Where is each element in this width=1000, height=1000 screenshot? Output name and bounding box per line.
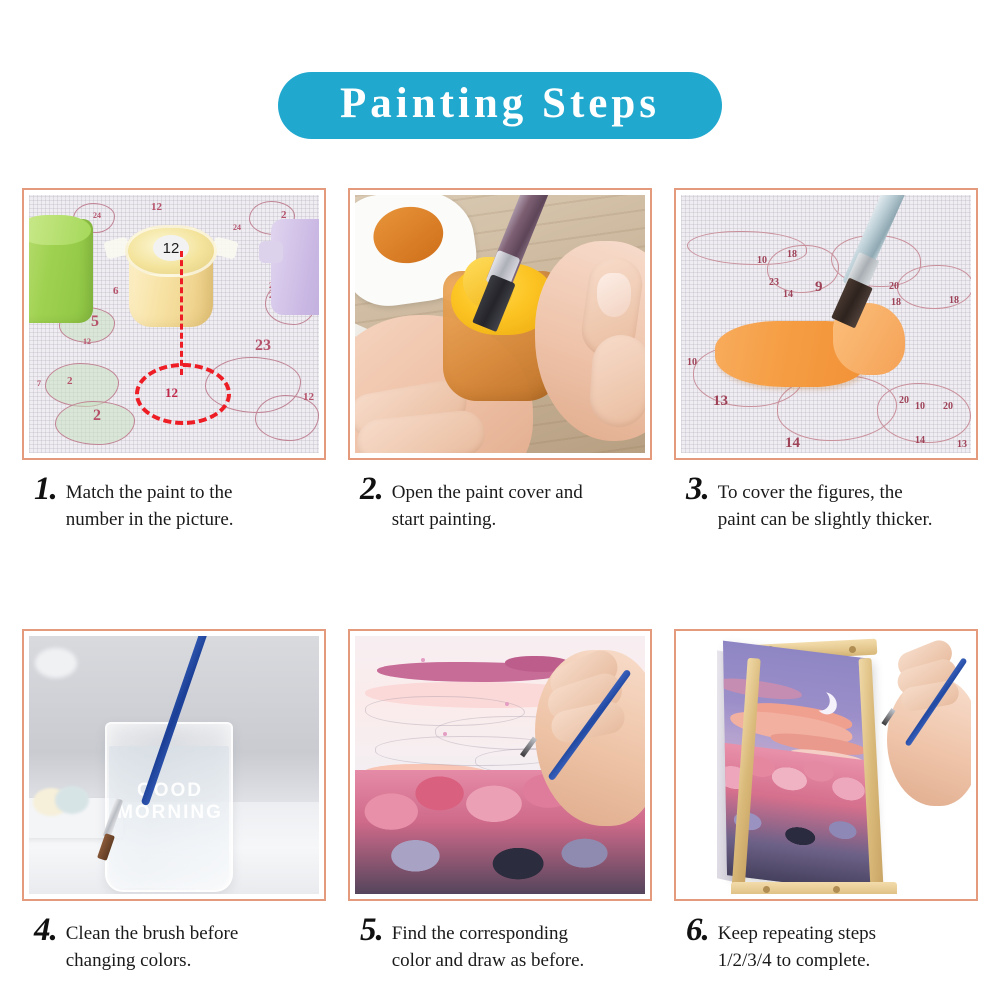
step-5-number: 5. bbox=[360, 915, 383, 945]
step-cell-6: 6. Keep repeating steps 1/2/3/4 to compl… bbox=[674, 629, 978, 974]
easel-screw bbox=[763, 886, 770, 893]
step-cell-3: 10 18 23 14 9 20 18 18 10 20 13 20 10 20 bbox=[674, 188, 978, 533]
steps-row-top: 12 24 2 24 7 6 24 23 5 12 23 2 7 2 bbox=[22, 188, 978, 533]
step-6-photo-frame bbox=[674, 629, 978, 901]
canvas-number: 18 bbox=[891, 297, 901, 308]
opening-paint-pot-photo bbox=[355, 195, 645, 453]
painted-cloud bbox=[723, 676, 802, 703]
paint-pot-number-label: 12 bbox=[153, 235, 189, 261]
canvas-number: 23 bbox=[769, 277, 779, 288]
canvas-number: 18 bbox=[787, 249, 797, 260]
canvas-number: 10 bbox=[757, 255, 767, 266]
number-dot bbox=[443, 732, 447, 736]
canvas-number: 24 bbox=[93, 211, 101, 220]
easel-screw bbox=[849, 646, 856, 653]
step-6-caption: 6. Keep repeating steps 1/2/3/4 to compl… bbox=[674, 915, 978, 974]
canvas-number: 18 bbox=[949, 295, 959, 306]
canvas-number: 10 bbox=[687, 357, 697, 368]
yellow-paint-pot: 12 bbox=[121, 219, 221, 327]
canvas-number: 20 bbox=[889, 281, 899, 292]
step-cell-1: 12 24 2 24 7 6 24 23 5 12 23 2 7 2 bbox=[22, 188, 326, 533]
step-3-caption: 3. To cover the figures, the paint can b… bbox=[674, 474, 978, 533]
page-title: Painting Steps bbox=[324, 82, 676, 125]
canvas-number: 14 bbox=[915, 435, 925, 446]
page-title-pill: Painting Steps bbox=[278, 72, 722, 139]
green-paint-pot bbox=[29, 219, 93, 323]
brush-covering-numbers-photo: 10 18 23 14 9 20 18 18 10 20 13 20 10 20 bbox=[681, 195, 971, 453]
canvas-outline-shape bbox=[45, 363, 119, 407]
step-5-photo-frame bbox=[348, 629, 652, 901]
background-blur-object bbox=[35, 648, 77, 678]
canvas-number: 13 bbox=[957, 439, 967, 450]
glass-printed-text: GOOD MORNING bbox=[115, 780, 225, 824]
canvas-number: 10 bbox=[915, 401, 925, 412]
canvas-number: 12 bbox=[303, 391, 314, 403]
canvas-number: 7 bbox=[37, 379, 41, 388]
page-title-container: Painting Steps bbox=[0, 72, 1000, 139]
step-cell-4: GOOD MORNING 4. Clean the brush before c… bbox=[22, 629, 326, 974]
brush-in-water-glass-photo: GOOD MORNING bbox=[29, 636, 319, 894]
canvas-number: 6 bbox=[113, 285, 119, 297]
number-dot bbox=[505, 702, 509, 706]
canvas-number: 23 bbox=[255, 337, 271, 355]
step-2-number: 2. bbox=[360, 474, 383, 504]
canvas-number: 12 bbox=[151, 201, 162, 213]
step-2-text: Open the paint cover and start painting. bbox=[392, 474, 583, 533]
background-object bbox=[55, 786, 89, 814]
canvas-number: 12 bbox=[83, 337, 91, 346]
purple-paint-pot bbox=[271, 219, 319, 315]
step-6-number: 6. bbox=[686, 915, 709, 945]
canvas-number: 20 bbox=[943, 401, 953, 412]
canvas-number: 9 bbox=[815, 279, 823, 296]
glass-text-line-2: MORNING bbox=[117, 802, 223, 823]
step-cell-2: 2. Open the paint cover and start painti… bbox=[348, 188, 652, 533]
step-1-photo-frame: 12 24 2 24 7 6 24 23 5 12 23 2 7 2 bbox=[22, 188, 326, 460]
step-5-caption: 5. Find the corresponding color and draw… bbox=[348, 915, 652, 974]
canvas-number: 20 bbox=[899, 395, 909, 406]
step-3-text: To cover the figures, the paint can be s… bbox=[718, 474, 933, 533]
step-6-text: Keep repeating steps 1/2/3/4 to complete… bbox=[718, 915, 876, 974]
highlighted-canvas-number: 12 bbox=[165, 385, 178, 401]
paint-pot-matching-number-photo: 12 24 2 24 7 6 24 23 5 12 23 2 7 2 bbox=[29, 195, 319, 453]
step-3-photo-frame: 10 18 23 14 9 20 18 18 10 20 13 20 10 20 bbox=[674, 188, 978, 460]
step-1-number: 1. bbox=[34, 474, 57, 504]
canvas-number: 2 bbox=[67, 375, 73, 387]
red-dashed-highlight-circle bbox=[135, 363, 231, 425]
step-5-text: Find the corresponding color and draw as… bbox=[392, 915, 585, 974]
step-3-number: 3. bbox=[686, 474, 709, 504]
canvas-number: 5 bbox=[91, 313, 99, 331]
step-2-photo-frame bbox=[348, 188, 652, 460]
canvas-number: 2 bbox=[93, 407, 101, 425]
canvas-outline-shape bbox=[897, 265, 971, 309]
step-4-text: Clean the brush before changing colors. bbox=[66, 915, 239, 974]
canvas-number: 24 bbox=[233, 223, 241, 232]
step-4-number: 4. bbox=[34, 915, 57, 945]
step-cell-5: 5. Find the corresponding color and draw… bbox=[348, 629, 652, 974]
number-dot bbox=[421, 658, 425, 662]
step-4-photo-frame: GOOD MORNING bbox=[22, 629, 326, 901]
red-dashed-pointer-line bbox=[180, 251, 183, 375]
finger bbox=[588, 333, 645, 429]
steps-grid: 12 24 2 24 7 6 24 23 5 12 23 2 7 2 bbox=[22, 188, 978, 974]
step-1-caption: 1. Match the paint to the number in the … bbox=[22, 474, 326, 533]
steps-row-bottom: GOOD MORNING 4. Clean the brush before c… bbox=[22, 629, 978, 974]
step-2-caption: 2. Open the paint cover and start painti… bbox=[348, 474, 652, 533]
canvas-number: 14 bbox=[785, 435, 800, 452]
fingernail bbox=[597, 273, 631, 317]
step-1-text: Match the paint to the number in the pic… bbox=[66, 474, 234, 533]
canvas-number: 13 bbox=[713, 393, 728, 410]
finished-painting-on-easel-photo bbox=[681, 636, 971, 894]
easel-screw bbox=[833, 886, 840, 893]
painting-in-progress-photo bbox=[355, 636, 645, 894]
step-4-caption: 4. Clean the brush before changing color… bbox=[22, 915, 326, 974]
easel-shelf bbox=[731, 882, 897, 894]
canvas-number: 14 bbox=[783, 289, 793, 300]
painting-steps-infographic: Painting Steps bbox=[0, 0, 1000, 1000]
